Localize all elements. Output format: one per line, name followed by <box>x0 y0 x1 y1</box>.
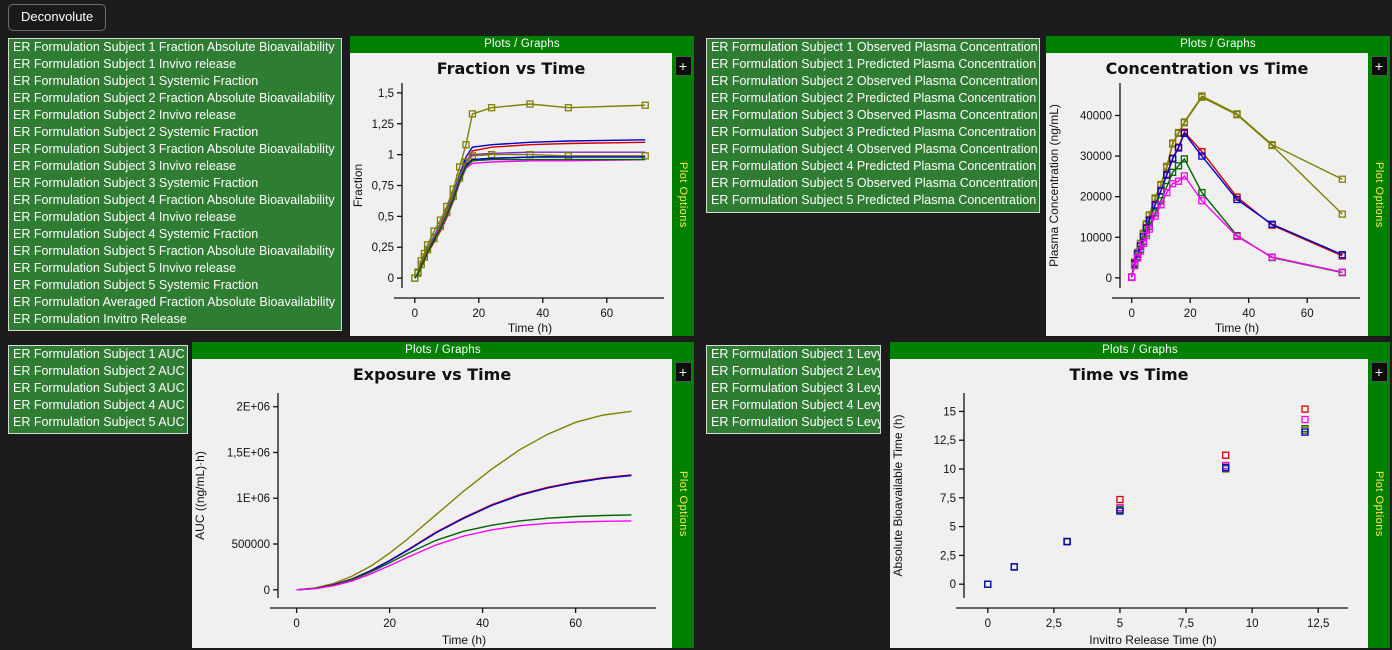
svg-text:Time (h): Time (h) <box>442 633 486 647</box>
svg-text:0: 0 <box>985 618 991 630</box>
svg-text:0: 0 <box>1128 308 1134 320</box>
plot-side-concentration: + Plot Options <box>1368 53 1390 336</box>
list-item[interactable]: ER Formulation Subject 2 Systemic Fracti… <box>9 124 341 141</box>
panel-header-fraction: Plots / Graphs <box>350 36 694 53</box>
list-item[interactable]: ER Formulation Subject 5 Fraction Absolu… <box>9 243 341 260</box>
list-item[interactable]: ER Formulation Subject 5 Systemic Fracti… <box>9 277 341 294</box>
list-item[interactable]: ER Formulation Subject 2 Fraction Absolu… <box>9 90 341 107</box>
svg-text:0: 0 <box>950 579 956 591</box>
svg-text:0: 0 <box>412 308 418 320</box>
svg-text:1,5E+06: 1,5E+06 <box>227 447 270 459</box>
plot-side-fraction: + Plot Options <box>672 53 694 336</box>
svg-text:40: 40 <box>476 618 489 630</box>
svg-text:0: 0 <box>264 585 270 597</box>
plot-options-toggle[interactable] <box>1368 79 1390 336</box>
list-item[interactable]: ER Formulation Subject 5 Predicted Plasm… <box>707 192 1039 209</box>
svg-text:Time (h): Time (h) <box>1215 321 1259 335</box>
list-item[interactable]: ER Formulation Subject 2 Invivo release <box>9 107 341 124</box>
svg-text:Absolute Bioavailable Time (h): Absolute Bioavailable Time (h) <box>891 414 905 576</box>
list-item[interactable]: ER Formulation Subject 3 Levy <box>707 380 880 397</box>
concentration-plot-panel: Plots / Graphs Concentration vs Time 010… <box>1046 36 1390 336</box>
deconvolute-button[interactable]: Deconvolute <box>8 4 106 31</box>
plot-canvas-exposure[interactable]: Exposure vs Time 05000001E+061,5E+062E+0… <box>192 359 672 648</box>
svg-text:0: 0 <box>1106 273 1112 285</box>
levy-plot-panel: Plots / Graphs Time vs Time 02,557,51012… <box>890 342 1390 648</box>
add-plot-button[interactable]: + <box>1371 56 1388 76</box>
svg-text:1E+06: 1E+06 <box>236 493 270 505</box>
concentration-series-list[interactable]: ER Formulation Subject 1 Observed Plasma… <box>706 38 1040 213</box>
list-item[interactable]: ER Formulation Subject 1 Systemic Fracti… <box>9 73 341 90</box>
list-item[interactable]: ER Formulation Subject 3 Predicted Plasm… <box>707 124 1039 141</box>
svg-text:20000: 20000 <box>1080 192 1112 204</box>
svg-text:0,25: 0,25 <box>372 242 394 254</box>
list-item[interactable]: ER Formulation Subject 1 Invivo release <box>9 56 341 73</box>
fraction-plot-panel: Plots / Graphs Fraction vs Time 00,250,5… <box>350 36 694 336</box>
list-item[interactable]: ER Formulation Subject 5 Observed Plasma… <box>707 175 1039 192</box>
svg-text:0: 0 <box>388 273 394 285</box>
svg-text:0,5: 0,5 <box>378 211 394 223</box>
svg-text:40000: 40000 <box>1080 110 1112 122</box>
svg-text:Time (h): Time (h) <box>508 321 552 335</box>
list-item[interactable]: ER Formulation Subject 4 Observed Plasma… <box>707 141 1039 158</box>
svg-text:60: 60 <box>1301 308 1314 320</box>
chart-exposure-vs-time: 05000001E+061,5E+062E+060204060Time (h)A… <box>192 359 672 648</box>
svg-text:Invitro Release Time (h): Invitro Release Time (h) <box>1089 633 1216 647</box>
plot-canvas-fraction[interactable]: Fraction vs Time 00,250,50,7511,251,5020… <box>350 53 672 336</box>
svg-text:60: 60 <box>600 308 613 320</box>
add-plot-button[interactable]: + <box>1371 362 1388 382</box>
svg-text:20: 20 <box>1184 308 1197 320</box>
list-item[interactable]: ER Formulation Subject 1 Predicted Plasm… <box>707 56 1039 73</box>
svg-text:12,5: 12,5 <box>1307 618 1329 630</box>
svg-text:2,5: 2,5 <box>1046 618 1062 630</box>
svg-text:2E+06: 2E+06 <box>236 402 270 414</box>
plot-canvas-concentration[interactable]: Concentration vs Time 010000200003000040… <box>1046 53 1368 336</box>
list-item[interactable]: ER Formulation Subject 3 Observed Plasma… <box>707 107 1039 124</box>
add-plot-button[interactable]: + <box>675 362 692 382</box>
plot-side-levy: + Plot Options <box>1368 359 1390 648</box>
svg-text:1,5: 1,5 <box>378 88 394 100</box>
plot-body-levy: Time vs Time 02,557,51012,51502,557,5101… <box>890 359 1390 648</box>
plot-body-fraction: Fraction vs Time 00,250,50,7511,251,5020… <box>350 53 694 336</box>
list-item[interactable]: ER Formulation Subject 1 Levy <box>707 346 880 363</box>
chart-time-vs-time: 02,557,51012,51502,557,51012,5Invitro Re… <box>890 359 1368 648</box>
list-item[interactable]: ER Formulation Subject 1 Fraction Absolu… <box>9 39 341 56</box>
exposure-plot-panel: Plots / Graphs Exposure vs Time 05000001… <box>192 342 694 648</box>
svg-text:7,5: 7,5 <box>940 493 956 505</box>
list-item[interactable]: ER Formulation Subject 3 Invivo release <box>9 158 341 175</box>
svg-text:500000: 500000 <box>232 539 270 551</box>
svg-text:2,5: 2,5 <box>940 550 956 562</box>
list-item[interactable]: ER Formulation Subject 4 Levy <box>707 397 880 414</box>
svg-text:5: 5 <box>1117 618 1123 630</box>
list-item[interactable]: ER Formulation Subject 5 Invivo release <box>9 260 341 277</box>
plot-options-toggle[interactable] <box>672 79 694 336</box>
auc-series-list[interactable]: ER Formulation Subject 1 AUCER Formulati… <box>8 345 188 434</box>
panel-header-concentration: Plots / Graphs <box>1046 36 1390 53</box>
svg-text:10: 10 <box>1246 618 1259 630</box>
svg-text:1,25: 1,25 <box>372 119 394 131</box>
svg-text:40: 40 <box>536 308 549 320</box>
svg-text:10: 10 <box>943 464 956 476</box>
svg-text:12,5: 12,5 <box>934 435 956 447</box>
svg-text:0,75: 0,75 <box>372 181 394 193</box>
plot-options-toggle[interactable] <box>672 385 694 648</box>
list-item[interactable]: ER Formulation Subject 2 AUC <box>9 363 187 380</box>
panel-header-exposure: Plots / Graphs <box>192 342 694 359</box>
list-item[interactable]: ER Formulation Subject 1 AUC <box>9 346 187 363</box>
svg-text:20: 20 <box>383 618 396 630</box>
list-item[interactable]: ER Formulation Subject 3 Fraction Absolu… <box>9 141 341 158</box>
svg-text:7,5: 7,5 <box>1178 618 1194 630</box>
fraction-series-list[interactable]: ER Formulation Subject 1 Fraction Absolu… <box>8 38 342 331</box>
list-item[interactable]: ER Formulation Subject 2 Observed Plasma… <box>707 73 1039 90</box>
list-item[interactable]: ER Formulation Subject 3 AUC <box>9 380 187 397</box>
list-item[interactable]: ER Formulation Averaged Fraction Absolut… <box>9 294 341 311</box>
list-item[interactable]: ER Formulation Subject 4 AUC <box>9 397 187 414</box>
panel-header-levy: Plots / Graphs <box>890 342 1390 359</box>
list-item[interactable]: ER Formulation Subject 2 Levy <box>707 363 880 380</box>
list-item[interactable]: ER Formulation Subject 4 Predicted Plasm… <box>707 158 1039 175</box>
svg-text:1: 1 <box>388 150 394 162</box>
list-item[interactable]: ER Formulation Subject 4 Fraction Absolu… <box>9 192 341 209</box>
chart-concentration-vs-time: 0100002000030000400000204060Time (h)Plas… <box>1046 53 1368 336</box>
svg-text:40: 40 <box>1242 308 1255 320</box>
plot-options-toggle[interactable] <box>1368 385 1390 648</box>
list-item[interactable]: ER Formulation Subject 5 AUC <box>9 414 187 431</box>
list-item[interactable]: ER Formulation Subject 4 Systemic Fracti… <box>9 226 341 243</box>
list-item[interactable]: ER Formulation Subject 3 Systemic Fracti… <box>9 175 341 192</box>
levy-series-list[interactable]: ER Formulation Subject 1 LevyER Formulat… <box>706 345 881 434</box>
plot-canvas-levy[interactable]: Time vs Time 02,557,51012,51502,557,5101… <box>890 359 1368 648</box>
svg-text:Plasma Concentration (ng/mL): Plasma Concentration (ng/mL) <box>1047 104 1061 267</box>
list-item[interactable]: ER Formulation Subject 5 Levy <box>707 414 880 431</box>
list-item[interactable]: ER Formulation Subject 1 Observed Plasma… <box>707 39 1039 56</box>
svg-text:Fraction: Fraction <box>351 164 365 207</box>
list-item[interactable]: ER Formulation Subject 2 Predicted Plasm… <box>707 90 1039 107</box>
svg-text:30000: 30000 <box>1080 151 1112 163</box>
plot-body-concentration: Concentration vs Time 010000200003000040… <box>1046 53 1390 336</box>
svg-text:15: 15 <box>943 406 956 418</box>
top-toolbar: Deconvolute <box>0 0 1392 32</box>
list-item[interactable]: ER Formulation Subject 4 Invivo release <box>9 209 341 226</box>
plot-side-exposure: + Plot Options <box>672 359 694 648</box>
add-plot-button[interactable]: + <box>675 56 692 76</box>
list-item[interactable]: ER Formulation Invitro Release <box>9 311 341 328</box>
svg-text:20: 20 <box>472 308 485 320</box>
svg-text:60: 60 <box>569 618 582 630</box>
svg-text:AUC ((ng/mL)·h): AUC ((ng/mL)·h) <box>193 451 207 540</box>
chart-fraction-vs-time: 00,250,50,7511,251,50204060Time (h)Fract… <box>350 53 672 336</box>
svg-text:10000: 10000 <box>1080 232 1112 244</box>
plot-body-exposure: Exposure vs Time 05000001E+061,5E+062E+0… <box>192 359 694 648</box>
app-root: Deconvolute ER Formulation Subject 1 Fra… <box>0 0 1392 650</box>
svg-text:5: 5 <box>950 522 956 534</box>
svg-text:0: 0 <box>293 618 299 630</box>
